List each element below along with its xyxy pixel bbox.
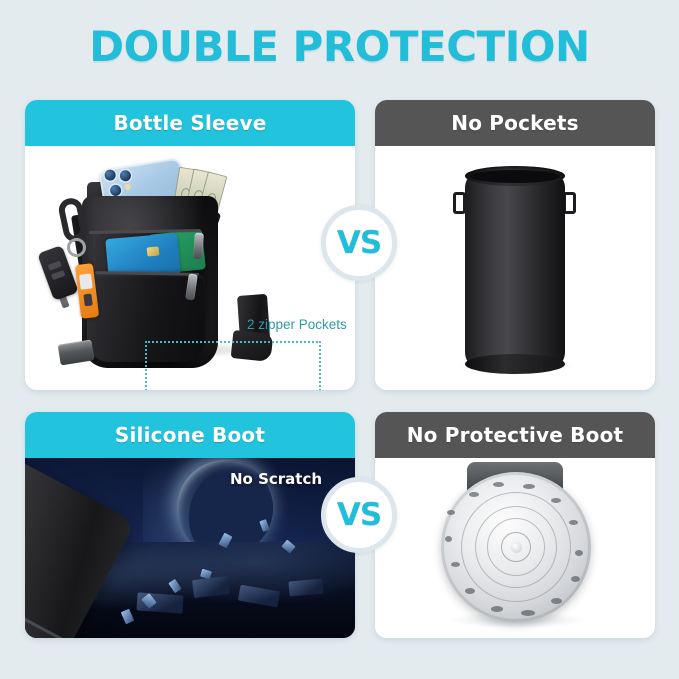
vs-label: VS [337, 225, 381, 261]
scratch-mark [575, 550, 583, 556]
panel-body-silicone-boot: No Scratch [25, 458, 355, 638]
scratch-mark [493, 482, 504, 487]
scratch-mark [551, 498, 561, 503]
scratch-mark [469, 492, 479, 497]
scratch-mark [491, 606, 503, 612]
panel-no-pockets: No Pockets [375, 100, 655, 390]
callout-label-zipper-pockets: 2 zipper Pockets [247, 317, 347, 332]
panel-header-bottle-sleeve: Bottle Sleeve [25, 100, 355, 146]
panel-bottle-sleeve: Bottle Sleeve [25, 100, 355, 390]
base-edge-highlight [441, 472, 591, 622]
scratch-mark [569, 520, 578, 525]
bottle-sleeve-product-image: 2 zipper Pockets [25, 146, 355, 390]
scratch-mark [465, 588, 475, 594]
vs-badge-top: VS [321, 205, 397, 281]
panel-header-silicone-boot: Silicone Boot [25, 412, 355, 458]
panel-body-no-protective-boot [375, 458, 655, 638]
panel-header-no-protective-boot: No Protective Boot [375, 412, 655, 458]
scratch-mark [523, 484, 535, 489]
scratched-bottle-image [375, 458, 655, 638]
scratch-mark [445, 536, 452, 542]
scratch-mark [551, 598, 562, 604]
key-ring-icon [67, 238, 86, 257]
panel-silicone-boot: Silicone Boot [25, 412, 355, 638]
sleeve-cylinder-body [465, 174, 565, 366]
panel-no-protective-boot: No Protective Boot [375, 412, 655, 638]
strap-adjuster-icon [58, 339, 95, 365]
label-no-scratch: No Scratch [230, 470, 322, 488]
panel-header-no-pockets: No Pockets [375, 100, 655, 146]
scratch-mark [571, 576, 580, 582]
scratch-mark [447, 510, 455, 515]
panel-body-no-pockets [375, 146, 655, 390]
vs-badge-bottom: VS [321, 477, 397, 553]
zipper-pull-upper-icon [193, 233, 204, 260]
vs-label: VS [337, 497, 381, 533]
panel-body-bottle-sleeve: 2 zipper Pockets [25, 146, 355, 390]
card-chip-icon [147, 246, 160, 256]
page-title: DOUBLE PROTECTION [0, 22, 679, 71]
callout-box [145, 341, 321, 390]
phone-camera-icon [104, 166, 138, 200]
scratch-mark [521, 610, 535, 616]
sleeve-bottom [465, 354, 565, 374]
plain-sleeve-product-image [375, 146, 655, 390]
scratch-mark [451, 562, 460, 567]
sleeve-inner-rim [470, 170, 560, 183]
infographic-root: DOUBLE PROTECTION Bottle Sleeve [0, 0, 679, 679]
